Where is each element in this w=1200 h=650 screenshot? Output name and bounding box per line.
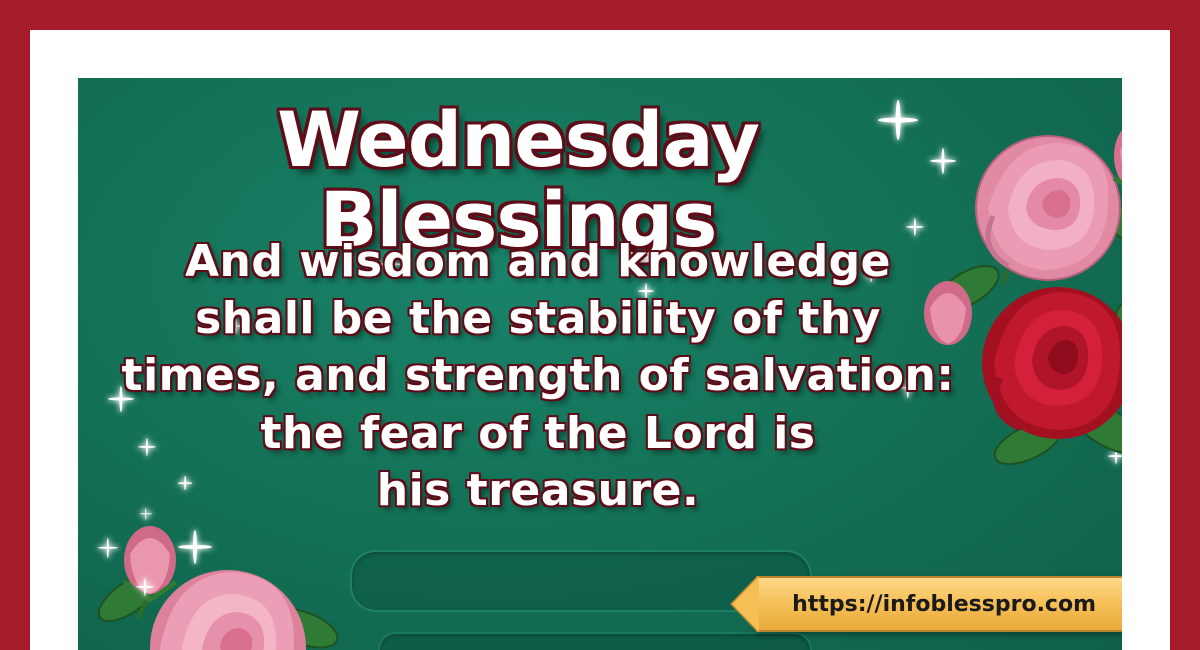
card-verse: And wisdom and knowledge shall be the st… [88, 233, 988, 519]
verse-line: And wisdom and knowledge [88, 233, 988, 290]
rose-cluster-icon [88, 508, 348, 650]
white-frame: Wednesday Blessings And wisdom and knowl… [30, 30, 1170, 650]
green-panel: Wednesday Blessings And wisdom and knowl… [78, 78, 1122, 650]
decorative-panel-lower [378, 632, 812, 650]
sparkle-icon [98, 538, 118, 558]
sparkle-icon [1108, 448, 1122, 464]
verse-line: his treasure. [88, 462, 988, 519]
sparkle-icon [1018, 378, 1036, 396]
sparkle-icon [136, 578, 154, 596]
verse-line: the fear of the Lord is [88, 405, 988, 462]
sparkle-icon [178, 530, 212, 564]
sparkle-icon [1086, 408, 1116, 438]
verse-line: times, and strength of salvation: [88, 347, 988, 404]
watermark-url-ribbon[interactable]: https://infoblesspro.com [756, 576, 1122, 632]
verse-line: shall be the stability of thy [88, 290, 988, 347]
greeting-card: Wednesday Blessings And wisdom and knowl… [0, 0, 1200, 650]
watermark-url-text: https://infoblesspro.com [792, 592, 1096, 617]
